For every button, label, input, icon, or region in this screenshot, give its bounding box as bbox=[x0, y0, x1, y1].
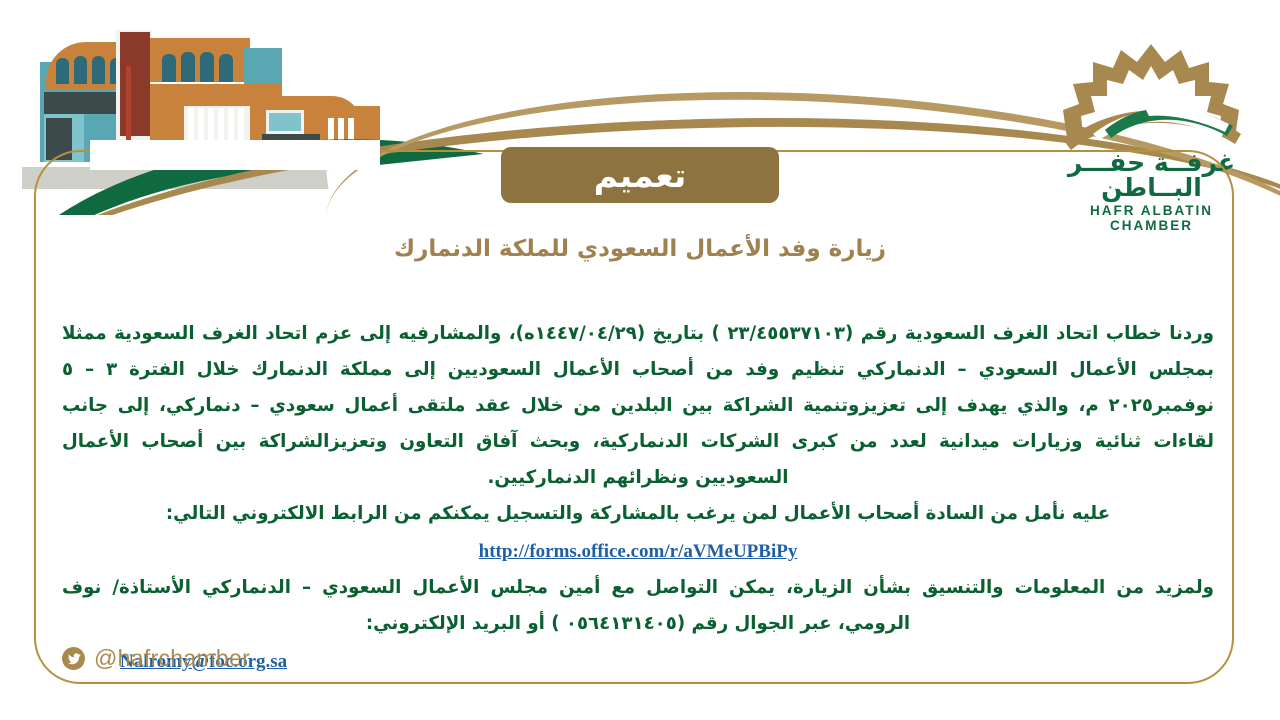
twitter-bird-icon[interactable] bbox=[62, 647, 85, 670]
document-title: زيارة وفد الأعمال السعودي للملكة الدنمار… bbox=[0, 236, 1280, 262]
frame-notch bbox=[90, 140, 380, 170]
social-handle[interactable]: @hafrchamber bbox=[62, 645, 250, 672]
chamber-logo-mark bbox=[1049, 38, 1254, 150]
paragraph-2: عليه نأمل من السادة أصحاب الأعمال لمن ير… bbox=[62, 496, 1214, 532]
paragraph-1: وردنا خطاب اتحاد الغرف السعودية رقم (٢٣/… bbox=[62, 316, 1214, 496]
crown-gear-icon bbox=[1049, 38, 1254, 150]
twitter-handle-text[interactable]: @hafrchamber bbox=[94, 645, 250, 672]
circular-badge: تعميم bbox=[501, 147, 779, 203]
registration-link-row: http://forms.office.com/r/aVMeUPBiPy bbox=[62, 534, 1214, 570]
paragraph-3: ولمزيد من المعلومات والتنسيق بشأن الزيار… bbox=[62, 570, 1214, 642]
circular-page: غرفــة حفـــر البــاطن HAFR ALBATIN CHAM… bbox=[0, 0, 1280, 720]
registration-link[interactable]: http://forms.office.com/r/aVMeUPBiPy bbox=[479, 534, 798, 570]
document-body: وردنا خطاب اتحاد الغرف السعودية رقم (٢٣/… bbox=[62, 316, 1214, 680]
